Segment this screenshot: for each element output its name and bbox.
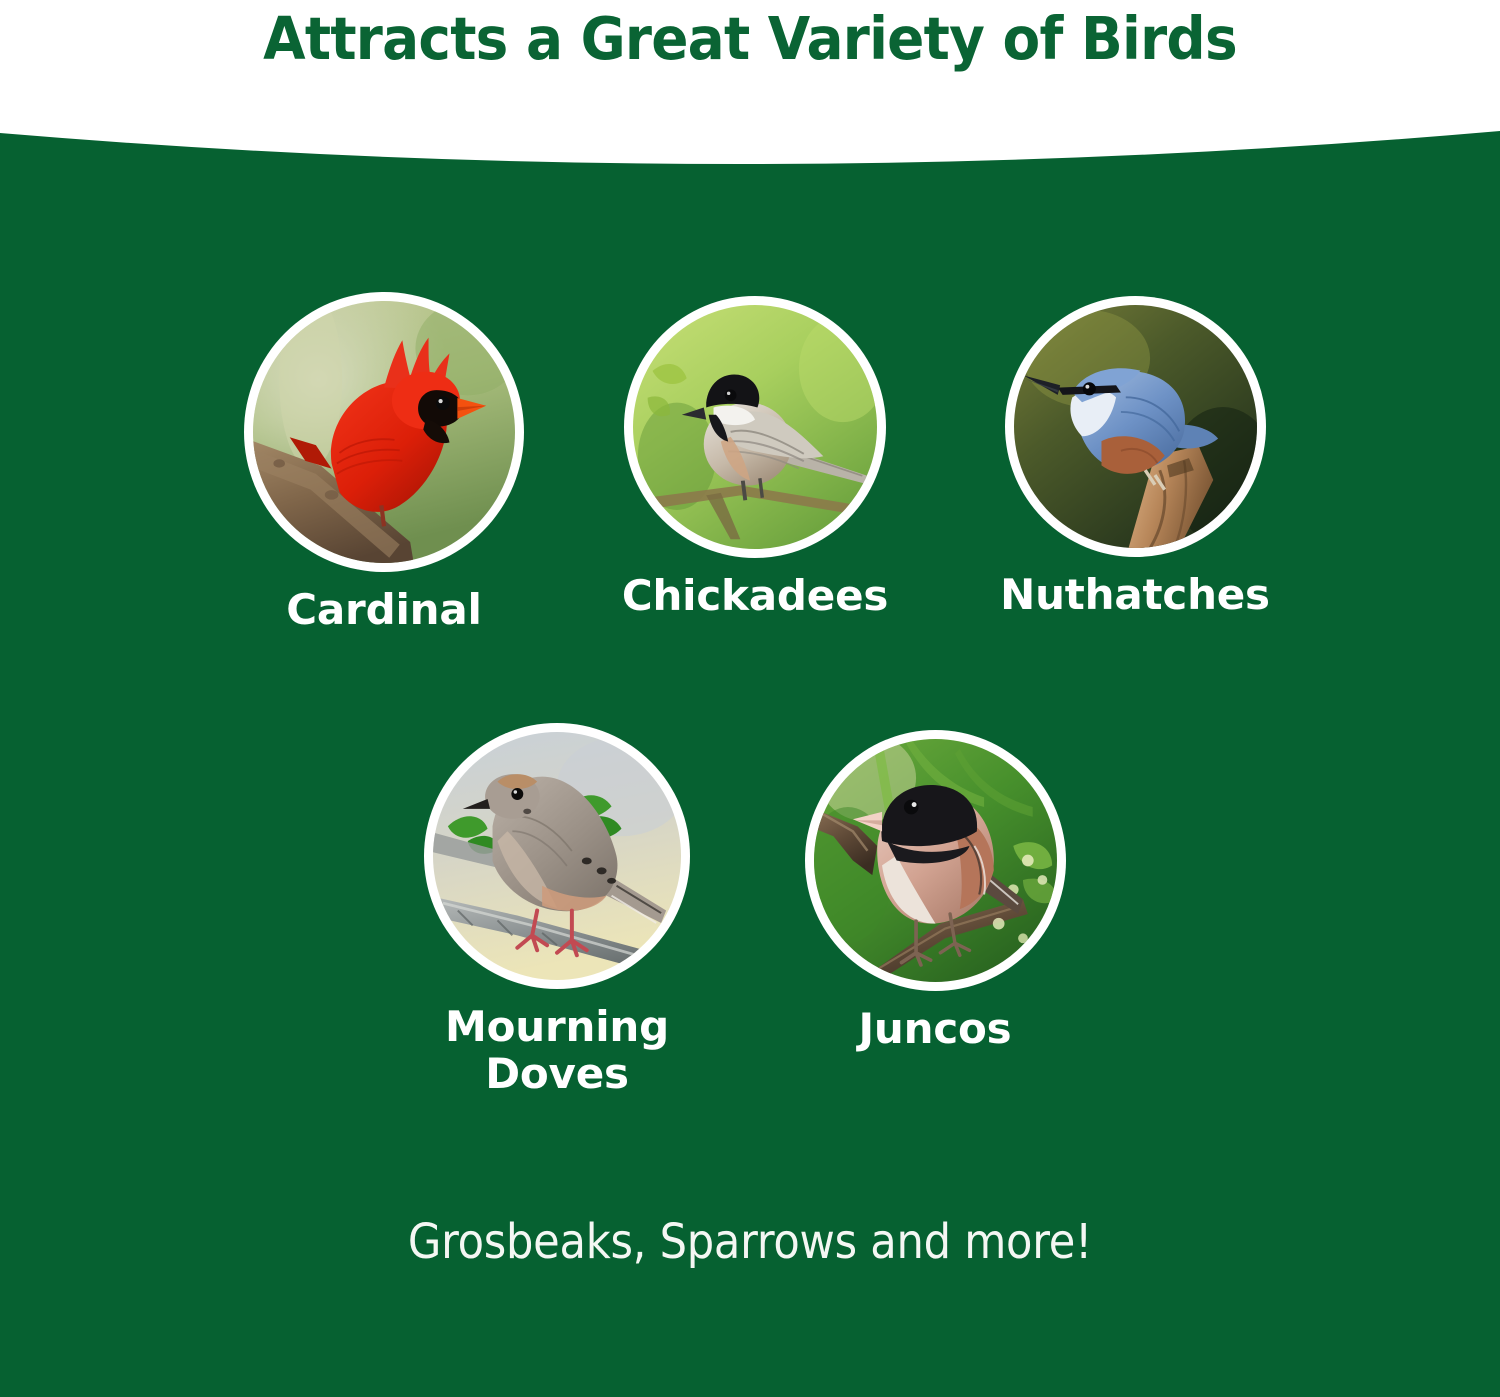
bird-card-mourning-doves[interactable]: Mourning Doves [377,723,737,1097]
bird-photo-ring-cardinal [244,292,524,572]
bird-grid: Cardinal [0,0,1500,1397]
bird-attraction-infographic: Attracts a Great Variety of Birds [0,0,1500,1397]
bird-photo-ring-nuthatches [1005,296,1266,557]
bird-photo-ring-mourning-doves [424,723,690,989]
bird-photo-ring-chickadees [624,296,886,558]
bird-photo-chickadees [633,305,877,549]
bird-photo-mourning-doves [433,732,681,980]
bird-photo-juncos [814,739,1057,982]
bird-card-juncos[interactable]: Juncos [755,730,1115,1052]
bird-label-nuthatches: Nuthatches [955,571,1315,618]
bird-label-chickadees: Chickadees [575,572,935,619]
bird-label-juncos: Juncos [755,1005,1115,1052]
bird-photo-ring-juncos [805,730,1066,991]
footer-note: Grosbeaks, Sparrows and more! [75,1214,1425,1270]
bird-label-mourning-doves: Mourning Doves [427,1003,687,1097]
bird-card-chickadees[interactable]: Chickadees [575,296,935,619]
bird-card-cardinal[interactable]: Cardinal [204,292,564,633]
bird-card-nuthatches[interactable]: Nuthatches [955,296,1315,618]
bird-label-cardinal: Cardinal [204,586,564,633]
bird-photo-nuthatches [1014,305,1257,548]
header-band [0,0,1500,131]
bird-photo-cardinal [253,301,515,563]
